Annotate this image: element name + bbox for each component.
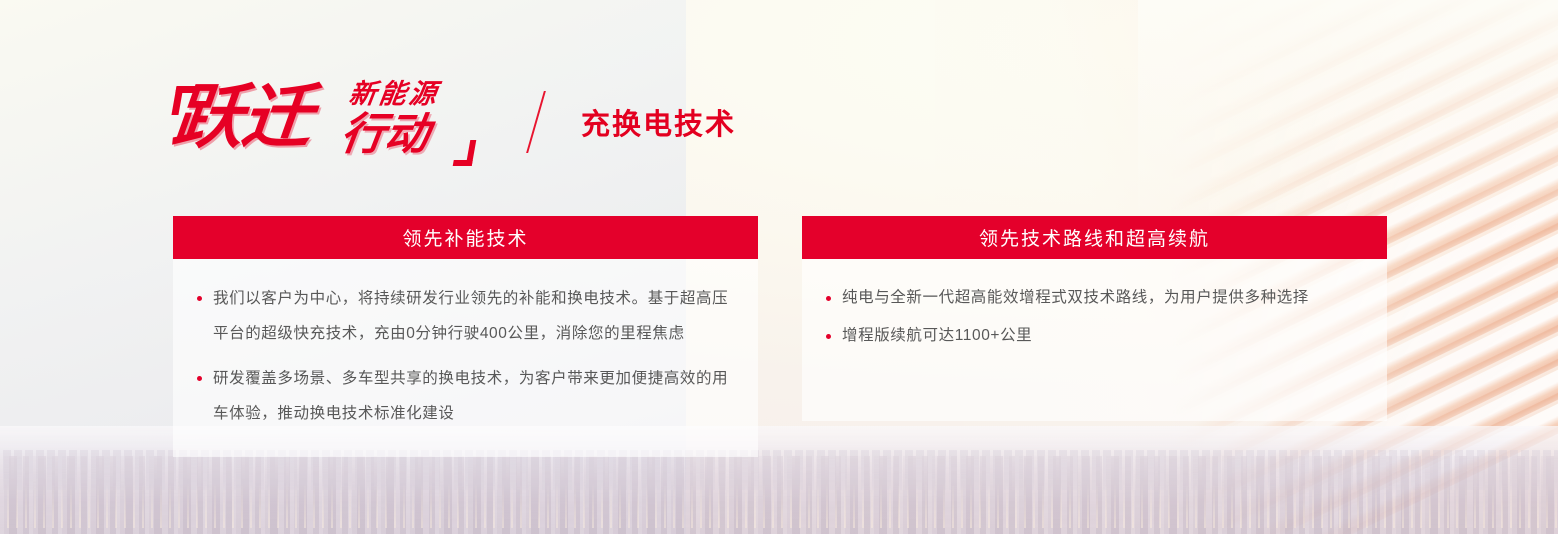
- bullet-dot-icon: [197, 296, 202, 301]
- banner-header: 跃迁 新能源 行动 充换电技术: [173, 74, 736, 170]
- card-body-leading-tech-route-and-range: 纯电与全新一代超高能效增程式双技术路线，为用户提供多种选择 增程版续航可达110…: [802, 259, 1387, 421]
- card-header-leading-recharge-technology: 领先补能技术: [173, 216, 758, 259]
- card-header-leading-tech-route-and-range: 领先技术路线和超高续航: [802, 216, 1387, 259]
- logo-main-text: 跃迁: [169, 80, 315, 154]
- card-leading-recharge-technology: 领先补能技术 我们以客户为中心，将持续研发行业领先的补能和换电技术。基于超高压平…: [173, 216, 758, 457]
- logo-subtitle-bottom: 行动: [337, 110, 432, 160]
- bullet-dot-icon: [826, 334, 831, 339]
- list-item: 我们以客户为中心，将持续研发行业领先的补能和换电技术。基于超高压平台的超级快充技…: [191, 281, 732, 351]
- list-item-text: 我们以客户为中心，将持续研发行业领先的补能和换电技术。基于超高压平台的超级快充技…: [213, 290, 728, 342]
- bullet-list-right: 纯电与全新一代超高能效增程式双技术路线，为用户提供多种选择 增程版续航可达110…: [820, 281, 1361, 353]
- card-body-leading-recharge-technology: 我们以客户为中心，将持续研发行业领先的补能和换电技术。基于超高压平台的超级快充技…: [173, 259, 758, 457]
- logo-bracket-close-icon: [453, 140, 477, 166]
- list-item: 纯电与全新一代超高能效增程式双技术路线，为用户提供多种选择: [820, 281, 1361, 315]
- promo-banner: 跃迁 新能源 行动 充换电技术 领先补能技术 我们以客户为中心，将持续研发行业领…: [0, 0, 1558, 534]
- card-leading-tech-route-and-range: 领先技术路线和超高续航 纯电与全新一代超高能效增程式双技术路线，为用户提供多种选…: [802, 216, 1387, 457]
- page-title: 充换电技术: [581, 101, 736, 143]
- bullet-list-left: 我们以客户为中心，将持续研发行业领先的补能和换电技术。基于超高压平台的超级快充技…: [191, 281, 732, 431]
- bullet-dot-icon: [826, 296, 831, 301]
- list-item: 增程版续航可达1100+公里: [820, 319, 1361, 353]
- list-item-text: 研发覆盖多场景、多车型共享的换电技术，为客户带来更加便捷高效的用车体验，推动换电…: [213, 370, 728, 422]
- header-slash-divider-icon: [526, 91, 546, 153]
- list-item: 研发覆盖多场景、多车型共享的换电技术，为客户带来更加便捷高效的用车体验，推动换电…: [191, 361, 732, 431]
- list-item-text: 纯电与全新一代超高能效增程式双技术路线，为用户提供多种选择: [842, 289, 1309, 306]
- feature-card-group: 领先补能技术 我们以客户为中心，将持续研发行业领先的补能和换电技术。基于超高压平…: [173, 216, 1387, 457]
- background-top-fade: [1138, 0, 1558, 230]
- logo-subtitle-top: 新能源: [347, 80, 441, 110]
- list-item-text: 增程版续航可达1100+公里: [842, 327, 1032, 344]
- campaign-logo: 跃迁 新能源 行动: [173, 74, 483, 170]
- bullet-dot-icon: [197, 376, 202, 381]
